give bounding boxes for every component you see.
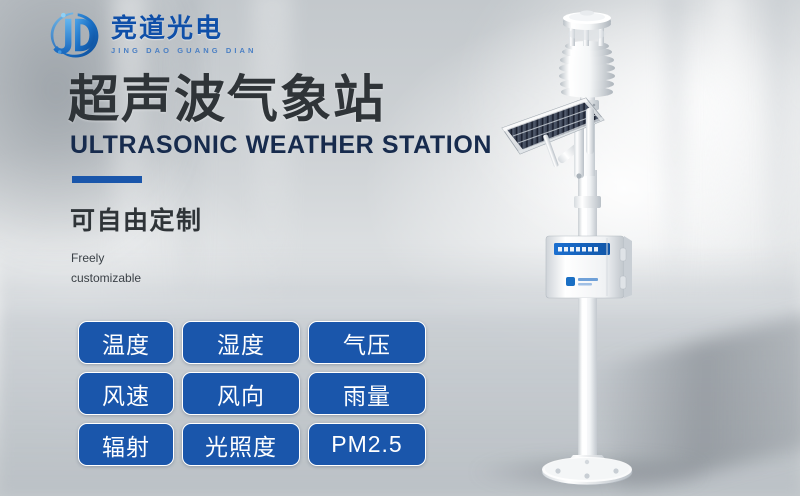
radiation-shield <box>559 47 615 98</box>
feature-tag-temperature[interactable]: 温度 <box>78 321 174 364</box>
feature-tag-humidity[interactable]: 湿度 <box>182 321 300 364</box>
page-title-en: ULTRASONIC WEATHER STATION <box>70 133 492 158</box>
brand-name-pinyin: JING DAO GUANG DIAN <box>111 46 257 55</box>
mast-collar-upper <box>574 196 601 208</box>
brand-logo: 竞道光电 JING DAO GUANG DIAN <box>48 8 257 62</box>
brand-name-cn: 竞道光电 <box>111 15 257 42</box>
background-pillar-5 <box>712 0 742 320</box>
subheading-cn: 可自由定制 <box>70 209 203 234</box>
data-logger-box <box>546 236 632 298</box>
product-banner: 竞道光电 JING DAO GUANG DIAN 超声波气象站 ULTRASON… <box>0 0 800 496</box>
subheading-en-line1: Freely <box>71 248 141 268</box>
feature-tag-radiation[interactable]: 辐射 <box>78 423 174 466</box>
feature-tag-illuminance[interactable]: 光照度 <box>182 423 300 466</box>
product-image-weather-station <box>470 0 700 496</box>
feature-tag-wind-speed[interactable]: 风速 <box>78 372 174 415</box>
accent-divider <box>72 176 142 183</box>
subheading-en-line2: customizable <box>71 268 141 288</box>
panel-mast-link <box>586 108 594 154</box>
page-title-cn: 超声波气象站 <box>68 74 386 125</box>
jd-monogram-icon <box>48 8 102 62</box>
ultrasonic-anemometer <box>563 10 611 51</box>
feature-tag-air-pressure[interactable]: 气压 <box>308 321 426 364</box>
feature-tag-wind-direction[interactable]: 风向 <box>182 372 300 415</box>
subheading-en: Freely customizable <box>71 248 141 288</box>
feature-tag-pm25[interactable]: PM2.5 <box>308 423 426 466</box>
feature-tag-list: 温度 湿度 气压 风速 风向 雨量 辐射 光照度 PM2.5 <box>78 321 426 466</box>
flange-base-plate <box>542 455 632 485</box>
background-pillar-6 <box>766 0 790 320</box>
feature-tag-rainfall[interactable]: 雨量 <box>308 372 426 415</box>
